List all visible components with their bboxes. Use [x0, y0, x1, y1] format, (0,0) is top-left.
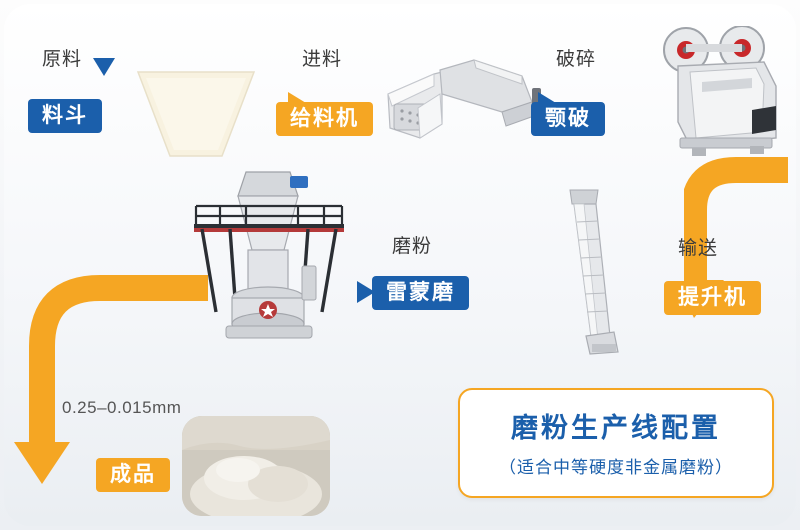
title-card-main: 磨粉生产线配置 — [460, 406, 772, 445]
stage-tag-grinding: 雷蒙磨 — [372, 276, 469, 310]
diagram-canvas: 原料 料斗 进料 给料机 破碎 颚破 — [0, 0, 800, 530]
powder-pile-icon — [182, 416, 330, 516]
vibrating-feeder-icon — [382, 58, 552, 150]
hopper-icon — [136, 70, 256, 158]
bucket-elevator-icon — [540, 186, 630, 356]
finished-product-photo — [182, 416, 330, 516]
title-card-sub: （适合中等硬度非金属磨粉） — [460, 453, 772, 478]
stage-tag-conveying: 提升机 — [664, 281, 761, 315]
title-card: 磨粉生产线配置 （适合中等硬度非金属磨粉） — [458, 388, 774, 498]
bucket-elevator-graphic — [540, 186, 630, 356]
stage-caption-raw-material: 原料 — [42, 44, 82, 71]
stage-tag-feeding: 给料机 — [276, 102, 373, 136]
stage-tag-finished: 成品 — [96, 458, 170, 492]
product-size-label: 0.25–0.015mm — [62, 398, 181, 418]
hopper-graphic — [136, 70, 256, 158]
jaw-crusher-graphic — [656, 26, 786, 158]
stage-tag-crushing: 颚破 — [531, 102, 605, 136]
vibrating-feeder-graphic — [382, 58, 552, 150]
stage-tag-raw-material: 料斗 — [28, 99, 102, 133]
stage-caption-grinding: 磨粉 — [392, 231, 432, 258]
stage-caption-conveying: 输送 — [678, 233, 718, 260]
jaw-crusher-icon — [656, 26, 786, 158]
arrow-raw-material — [93, 58, 115, 76]
stage-caption-feeding: 进料 — [302, 44, 342, 71]
stage-caption-crushing: 破碎 — [556, 44, 596, 71]
